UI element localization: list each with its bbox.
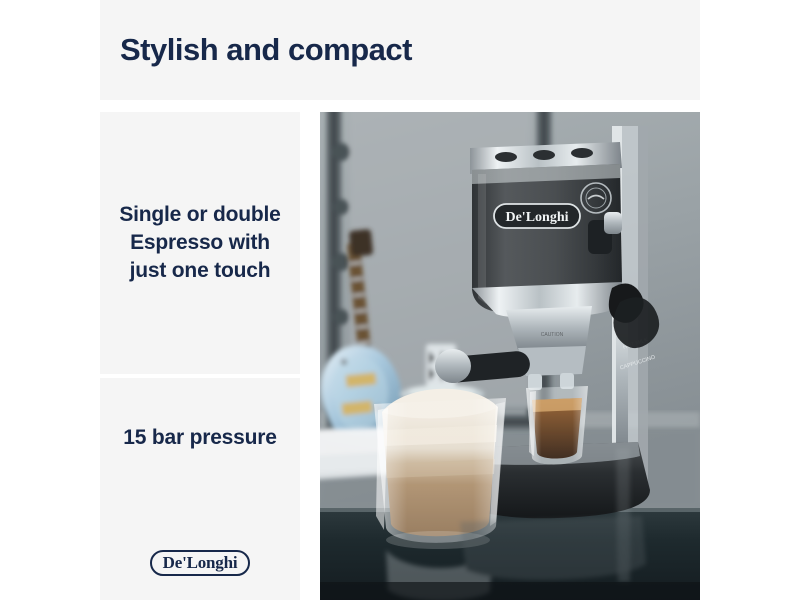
counter-shadow xyxy=(320,582,700,600)
brand-logo-container: De'Longhi xyxy=(100,545,300,581)
feature-text-pressure: 15 bar pressure xyxy=(123,424,276,452)
promo-page: Stylish and compact Single or double Esp… xyxy=(0,0,800,600)
feature-panel-espresso: Single or double Espresso with just one … xyxy=(100,112,300,374)
svg-text:De'Longhi: De'Longhi xyxy=(505,210,568,225)
svg-text:CAUTION: CAUTION xyxy=(541,332,564,338)
page-title: Stylish and compact xyxy=(100,33,412,67)
brew-group xyxy=(506,306,592,350)
machine-brand-badge: De'Longhi xyxy=(494,204,580,228)
header-banner: Stylish and compact xyxy=(100,0,700,100)
espresso-glass xyxy=(526,386,588,465)
brand-logo-label: De'Longhi xyxy=(163,554,238,571)
feature-text-espresso: Single or double Espresso with just one … xyxy=(114,201,286,284)
product-photo: De'Longhi CAUTION xyxy=(320,112,700,600)
lever-chrome xyxy=(604,212,622,234)
product-photo-illustration: De'Longhi CAUTION xyxy=(320,112,700,600)
delonghi-oval-logo-icon: De'Longhi xyxy=(150,550,251,576)
